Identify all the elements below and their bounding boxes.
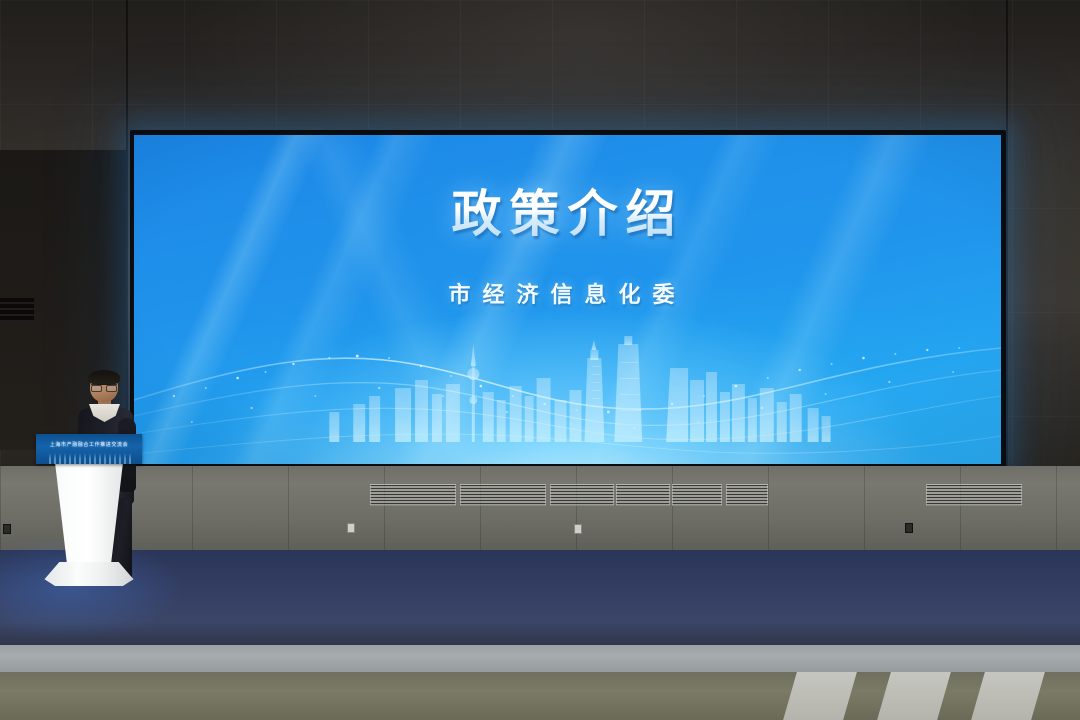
floor-marking <box>971 672 1045 720</box>
wall-air-vent <box>726 484 768 506</box>
podium-banner-skyline <box>46 453 132 464</box>
wall-air-vent <box>370 484 456 506</box>
podium-banner-text: 上海市产融融合工作推进交流会 <box>36 441 142 448</box>
led-screen-bezel: 政策介绍 市经济信息化委 <box>130 130 1006 468</box>
wall-outlet <box>347 523 355 533</box>
wall-seam-vertical <box>1006 0 1008 470</box>
wall-air-vent <box>616 484 670 506</box>
presentation-photo-scene: 政策介绍 市经济信息化委 <box>0 0 1080 720</box>
podium-banner: 上海市产融融合工作推进交流会 <box>36 434 142 464</box>
podium-body <box>36 463 142 571</box>
wall-slot-vent <box>0 310 34 314</box>
podium: 上海市产融融合工作推进交流会 <box>36 434 142 586</box>
podium-base <box>36 562 142 586</box>
wall-air-vent <box>460 484 546 506</box>
floor-marking <box>877 672 951 720</box>
led-screen-display: 政策介绍 市经济信息化委 <box>134 135 1001 464</box>
wall-air-vent <box>550 484 614 506</box>
glasses-icon <box>91 384 117 390</box>
floor-marking <box>783 672 857 720</box>
wall-outlet <box>3 524 11 534</box>
wall-air-vent <box>926 484 1022 506</box>
stage-edge-trim <box>0 645 1080 675</box>
screen-vignette <box>134 135 1001 464</box>
wall-outlet <box>905 523 913 533</box>
wall-slot-vent <box>0 298 34 302</box>
floor <box>0 672 1080 720</box>
wall-outlet <box>574 524 582 534</box>
wall-air-vent <box>672 484 722 506</box>
speaker-hair <box>88 370 120 385</box>
